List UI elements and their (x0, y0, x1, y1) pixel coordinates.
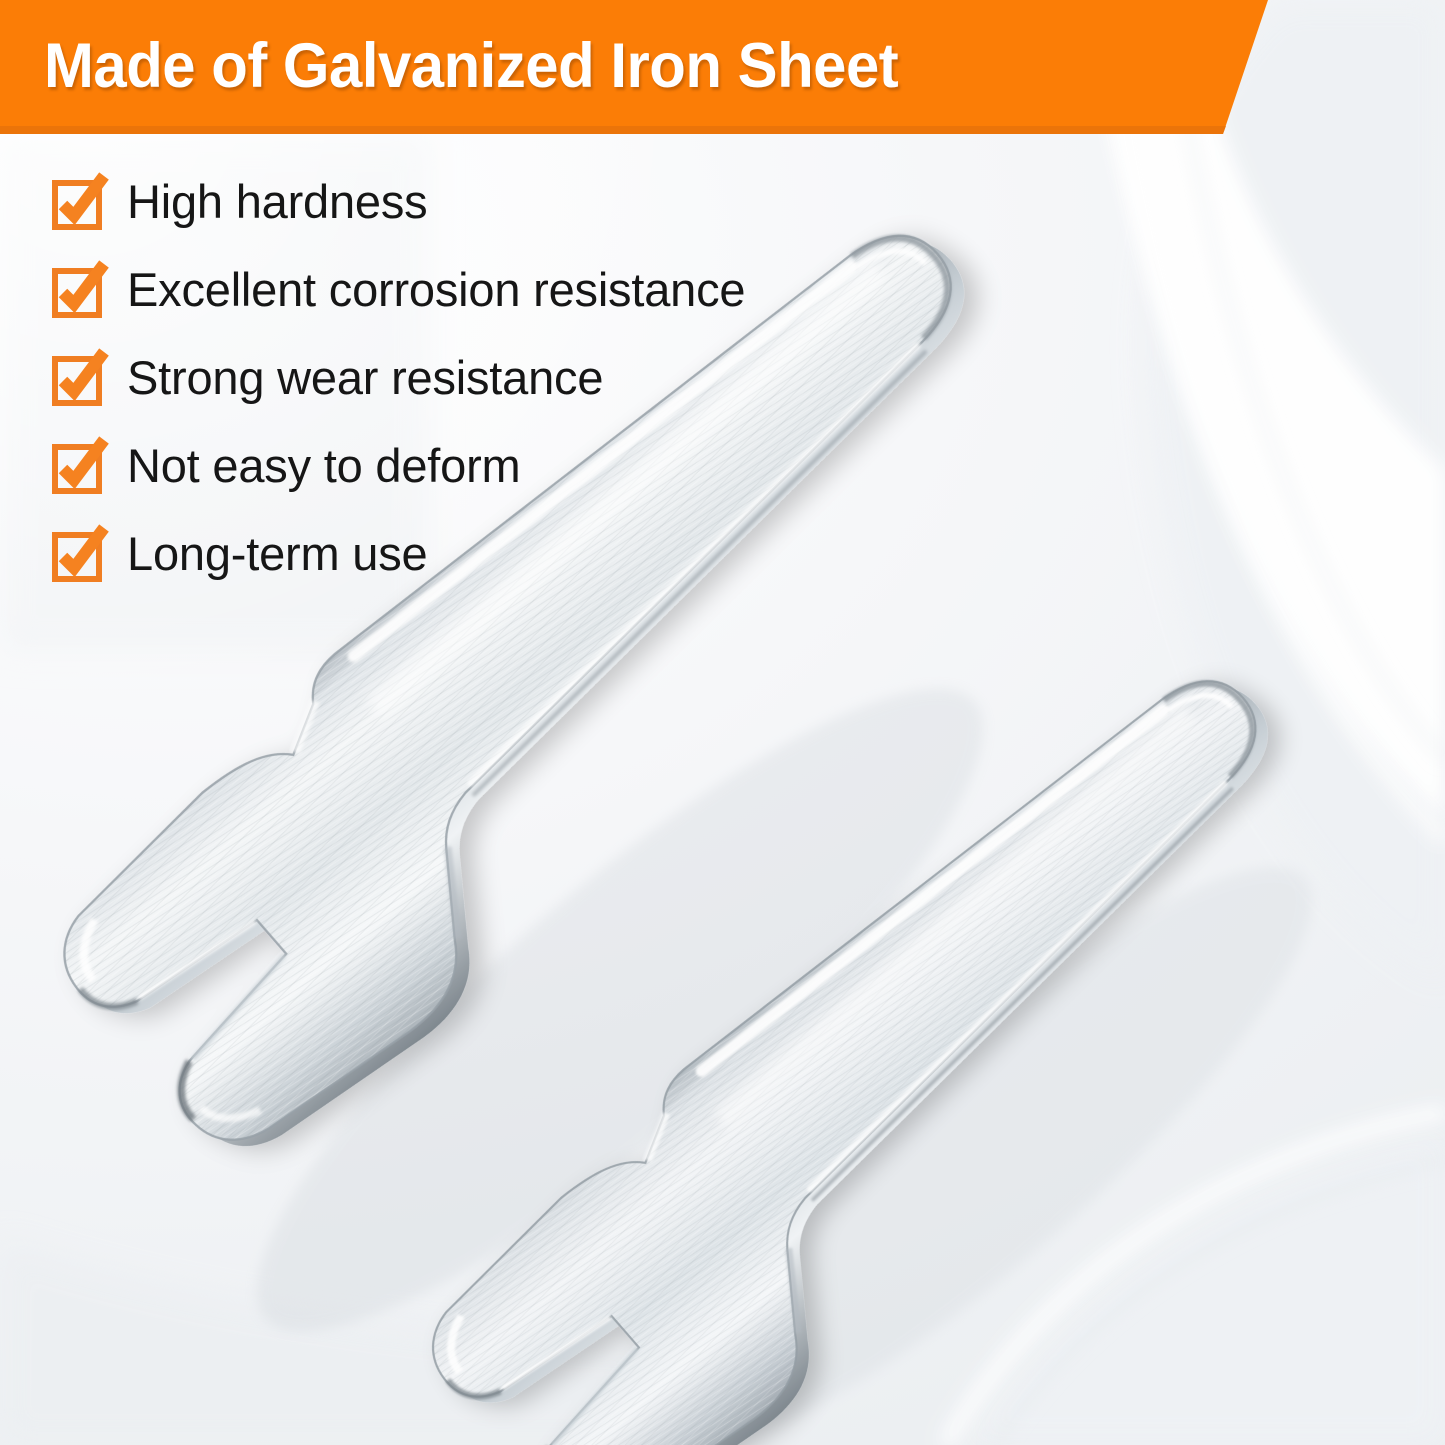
product-feature-image: Made of Galvanized Iron Sheet High hardn… (0, 0, 1445, 1445)
product-photo (0, 0, 1445, 1445)
